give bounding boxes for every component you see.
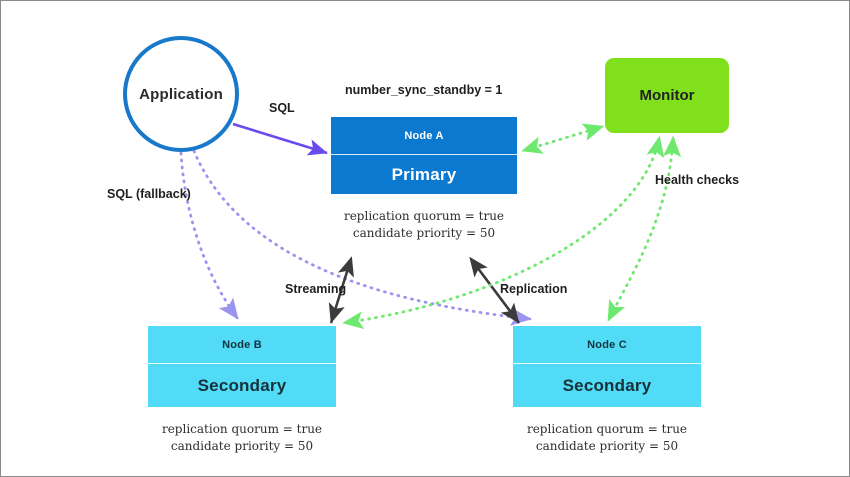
node-b-name: Node B xyxy=(148,326,336,363)
node-c-param-quorum: replication quorum = true xyxy=(517,421,697,438)
node-a-param-quorum: replication quorum = true xyxy=(334,208,514,225)
node-b-param-priority: candidate priority = 50 xyxy=(152,438,332,455)
node-application[interactable]: Application xyxy=(123,36,239,152)
label-number-sync-standby: number_sync_standby = 1 xyxy=(345,83,502,97)
node-monitor[interactable]: Monitor xyxy=(605,58,729,133)
node-a-params: replication quorum = true candidate prio… xyxy=(334,208,514,242)
label-streaming: Streaming xyxy=(285,282,346,296)
node-c-role: Secondary xyxy=(513,364,701,407)
node-a-role: Primary xyxy=(331,155,517,194)
node-a-name: Node A xyxy=(331,117,517,154)
edge-health-node-c xyxy=(608,139,673,321)
node-c-params: replication quorum = true candidate prio… xyxy=(517,421,697,455)
node-c-name: Node C xyxy=(513,326,701,363)
edge-health-node-a xyxy=(522,127,601,151)
edge-sql-fallback-b xyxy=(181,153,238,319)
node-b[interactable]: Node B Secondary xyxy=(148,326,336,407)
edge-sql xyxy=(233,124,327,153)
node-a-param-priority: candidate priority = 50 xyxy=(334,225,514,242)
node-a-divider xyxy=(331,154,517,155)
label-health-checks: Health checks xyxy=(655,173,739,187)
application-label: Application xyxy=(139,86,223,103)
label-sql: SQL xyxy=(269,101,295,115)
label-sql-fallback: SQL (fallback) xyxy=(107,187,191,201)
node-a[interactable]: Node A Primary xyxy=(331,117,517,194)
label-replication: Replication xyxy=(500,282,567,296)
diagram-canvas: Application Monitor Node A Primary Node … xyxy=(0,0,850,477)
node-c-divider xyxy=(513,363,701,364)
node-c[interactable]: Node C Secondary xyxy=(513,326,701,407)
monitor-label: Monitor xyxy=(640,87,695,104)
node-b-param-quorum: replication quorum = true xyxy=(152,421,332,438)
node-c-param-priority: candidate priority = 50 xyxy=(517,438,697,455)
node-b-role: Secondary xyxy=(148,364,336,407)
node-b-divider xyxy=(148,363,336,364)
node-b-params: replication quorum = true candidate prio… xyxy=(152,421,332,455)
